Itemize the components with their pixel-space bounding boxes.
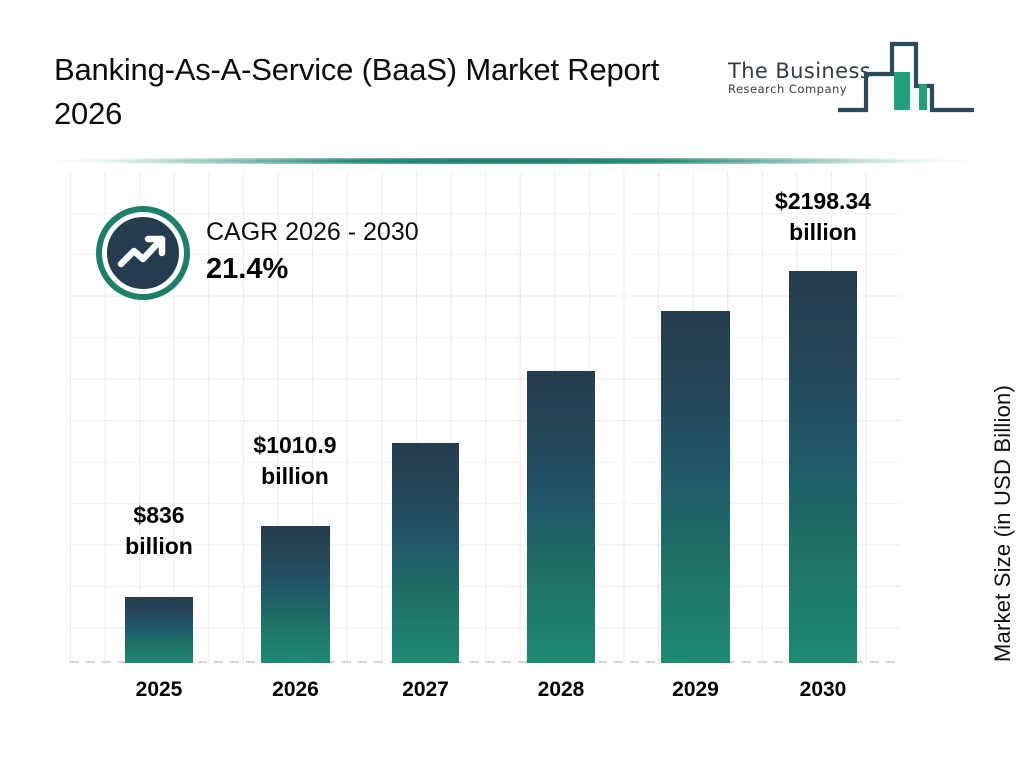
- x-tick-2030: 2030: [763, 678, 883, 702]
- y-axis-title: Market Size (in USD Billion): [990, 282, 1022, 662]
- trending-up-icon: [96, 206, 190, 300]
- x-tick-2028: 2028: [501, 678, 621, 702]
- bar-2025: [125, 597, 193, 663]
- cagr-period-label: CAGR 2026 - 2030: [206, 218, 419, 247]
- x-tick-2029: 2029: [636, 678, 756, 702]
- cagr-text-block: CAGR 2026 - 2030 21.4%: [206, 218, 419, 288]
- x-tick-2026: 2026: [236, 678, 356, 702]
- bar-2027: [392, 443, 459, 663]
- bar-2030: [789, 271, 857, 663]
- bar-2026: [261, 526, 330, 663]
- cagr-value-label: 21.4%: [206, 251, 419, 289]
- x-tick-2025: 2025: [99, 678, 219, 702]
- value-label-2026: $1010.9 billion: [202, 430, 388, 491]
- bar-series: [0, 0, 1024, 663]
- chart-page: Banking-As-A-Service (BaaS) Market Repor…: [0, 0, 1024, 768]
- value-label-2030: $2198.34 billion: [728, 186, 918, 247]
- bar-2028: [527, 371, 595, 663]
- x-tick-2027: 2027: [366, 678, 486, 702]
- bar-2029: [661, 311, 730, 663]
- value-label-2025: $836 billion: [66, 500, 252, 561]
- cagr-callout: CAGR 2026 - 2030 21.4%: [96, 206, 496, 306]
